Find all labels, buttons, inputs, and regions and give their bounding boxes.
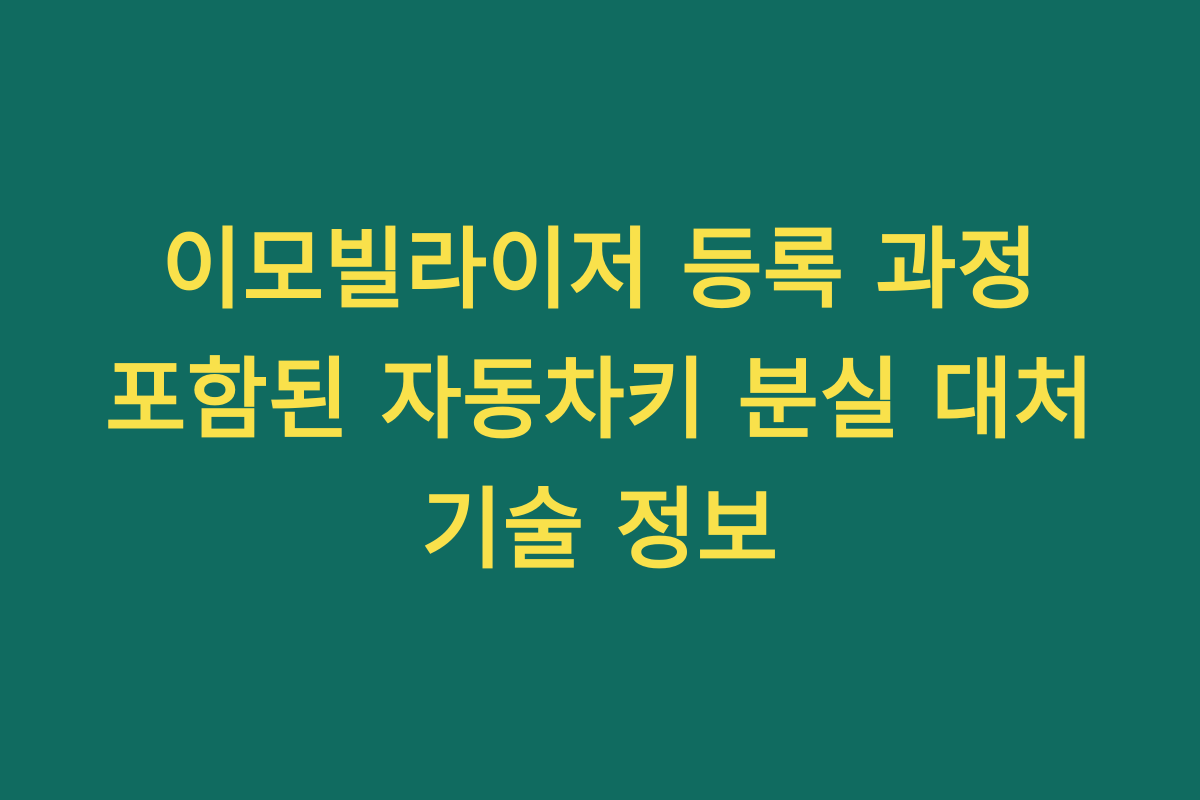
- banner-title: 이모빌라이저 등록 과정 포함된 자동차키 분실 대처 기술 정보: [85, 205, 1115, 595]
- banner-card: 이모빌라이저 등록 과정 포함된 자동차키 분실 대처 기술 정보: [0, 0, 1200, 800]
